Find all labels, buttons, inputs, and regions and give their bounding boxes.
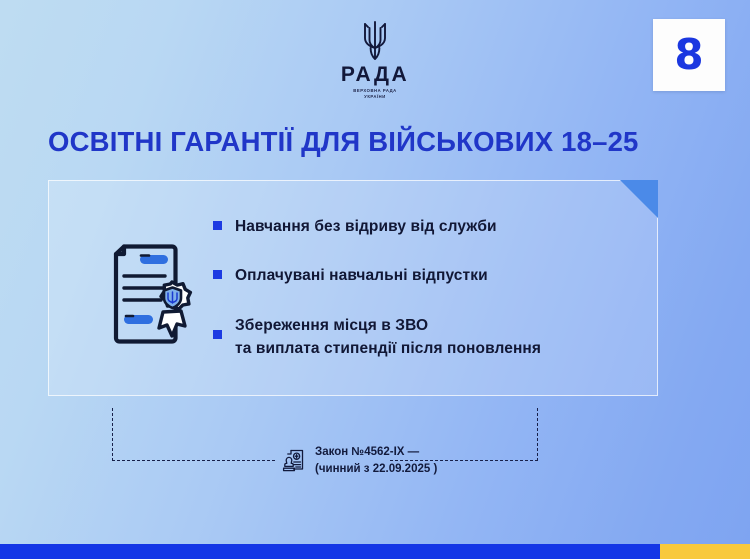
benefit-text-2: Оплачувані навчальні відпустки (235, 264, 488, 287)
bullet-square-icon (213, 221, 222, 230)
page-title: ОСВІТНІ ГАРАНТІЇ ДЛЯ ВІЙСЬКОВИХ 18–25 (48, 126, 639, 158)
slide-number-badge: 8 (653, 19, 725, 91)
dash-left-vertical (112, 408, 113, 461)
law-reference-line2: (чинний з 22.09.2025 ) (315, 461, 437, 478)
benefit-text-3: Збереження місця в ЗВО та виплата стипен… (235, 314, 541, 361)
dash-right-vertical (537, 408, 538, 461)
benefit-item-2: Оплачувані навчальні відпустки (213, 264, 633, 287)
logo-subtitle-line2: УКРАЇНИ (285, 94, 465, 100)
logo-wordmark: РАДА (285, 64, 465, 85)
law-reference-line1: Закон №4562-IX — (315, 446, 419, 458)
benefit-item-3: Збереження місця в ЗВО та виплата стипен… (213, 314, 633, 361)
benefit-text-3-line2: та виплата стипендії після поновлення (235, 337, 541, 360)
benefit-text-1: Навчання без відриву від служби (235, 215, 497, 238)
panel-folded-corner (620, 180, 658, 218)
benefit-text-3-line1: Збереження місця в ЗВО (235, 317, 428, 334)
slide-number-value: 8 (674, 34, 703, 76)
benefit-item-1: Навчання без відриву від служби (213, 215, 633, 238)
benefits-list: Навчання без відриву від служби Оплачува… (213, 215, 633, 360)
ukraine-trident-emblem-icon (357, 18, 393, 62)
verkhovna-rada-logo: РАДА ВЕРХОВНА РАДА УКРАЇНИ (285, 18, 465, 101)
dash-bottom-left (112, 460, 275, 461)
certificate-with-seal-icon (93, 238, 203, 346)
law-reference-text: Закон №4562-IX — (чинний з 22.09.2025 ) (315, 444, 437, 477)
stamp-document-icon (281, 448, 307, 474)
bottom-bar-yellow (660, 544, 750, 559)
bullet-square-icon (213, 270, 222, 279)
law-reference: Закон №4562-IX — (чинний з 22.09.2025 ) (281, 444, 437, 477)
slide-header: РАДА ВЕРХОВНА РАДА УКРАЇНИ 8 (0, 0, 750, 112)
slide-canvas: РАДА ВЕРХОВНА РАДА УКРАЇНИ 8 ОСВІТНІ ГАР… (0, 0, 750, 559)
bottom-bar-blue (0, 544, 660, 559)
bullet-square-icon (213, 330, 222, 339)
